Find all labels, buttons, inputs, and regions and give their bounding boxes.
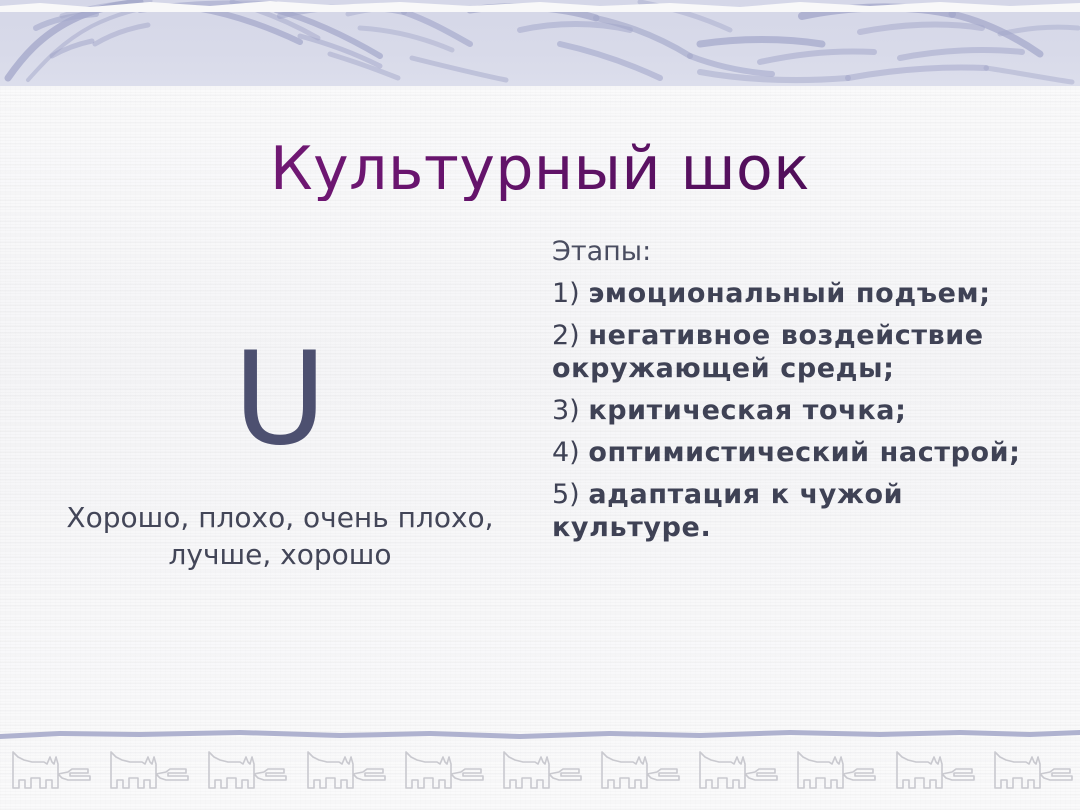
stylized-animal-motif	[795, 748, 881, 794]
left-column: U Хорошо, плохо, очень плохо, лучше, хор…	[40, 236, 520, 574]
stylized-animal-motif	[599, 748, 685, 794]
stage-text: эмоциональный подъем;	[588, 278, 990, 309]
slide-title: Культурный шок	[0, 138, 1080, 201]
stage-text: критическая точка;	[588, 395, 906, 426]
top-decorative-band	[0, 0, 1080, 86]
stages-heading: Этапы:	[552, 236, 1022, 269]
stylized-animal-motif	[206, 748, 292, 794]
stage-item: 3) критическая точка;	[552, 395, 1022, 428]
band-ragged-edge	[0, 0, 1080, 12]
stage-text: оптимистический настрой;	[588, 437, 1020, 468]
stage-item: 1) эмоциональный подъем;	[552, 278, 1022, 311]
slide-body: U Хорошо, плохо, очень плохо, лучше, хор…	[0, 236, 1080, 706]
stylized-animal-motif	[108, 748, 194, 794]
stage-number: 2)	[552, 320, 580, 351]
right-column: Этапы: 1) эмоциональный подъем; 2) негат…	[552, 236, 1022, 554]
stage-number: 1)	[552, 278, 580, 309]
stylized-animal-motif	[894, 748, 980, 794]
stage-item: 2) негативное воздействие окружающей сре…	[552, 320, 1022, 386]
stage-text: адаптация к чужой культуре.	[552, 479, 903, 543]
stylized-animal-motif	[403, 748, 489, 794]
bottom-motif-row	[0, 748, 1080, 800]
stylized-animal-motif	[305, 748, 391, 794]
stage-number: 5)	[552, 479, 580, 510]
u-curve-caption: Хорошо, плохо, очень плохо, лучше, хорош…	[40, 500, 520, 574]
stage-text: негативное воздействие окружающей среды;	[552, 320, 984, 384]
stylized-animal-motif	[10, 748, 96, 794]
stage-item: 5) адаптация к чужой культуре.	[552, 479, 1022, 545]
brush-stroke-band-icon	[0, 0, 1080, 86]
stylized-animal-motif	[992, 748, 1078, 794]
stylized-animal-motif	[501, 748, 587, 794]
presentation-slide: Культурный шок U Хорошо, плохо, очень пл…	[0, 0, 1080, 810]
thin-divider-line	[0, 726, 1080, 740]
u-curve-letter: U	[40, 336, 520, 464]
stage-item: 4) оптимистический настрой;	[552, 437, 1022, 470]
stylized-animal-motif	[697, 748, 783, 794]
stage-number: 4)	[552, 437, 580, 468]
stage-number: 3)	[552, 395, 580, 426]
